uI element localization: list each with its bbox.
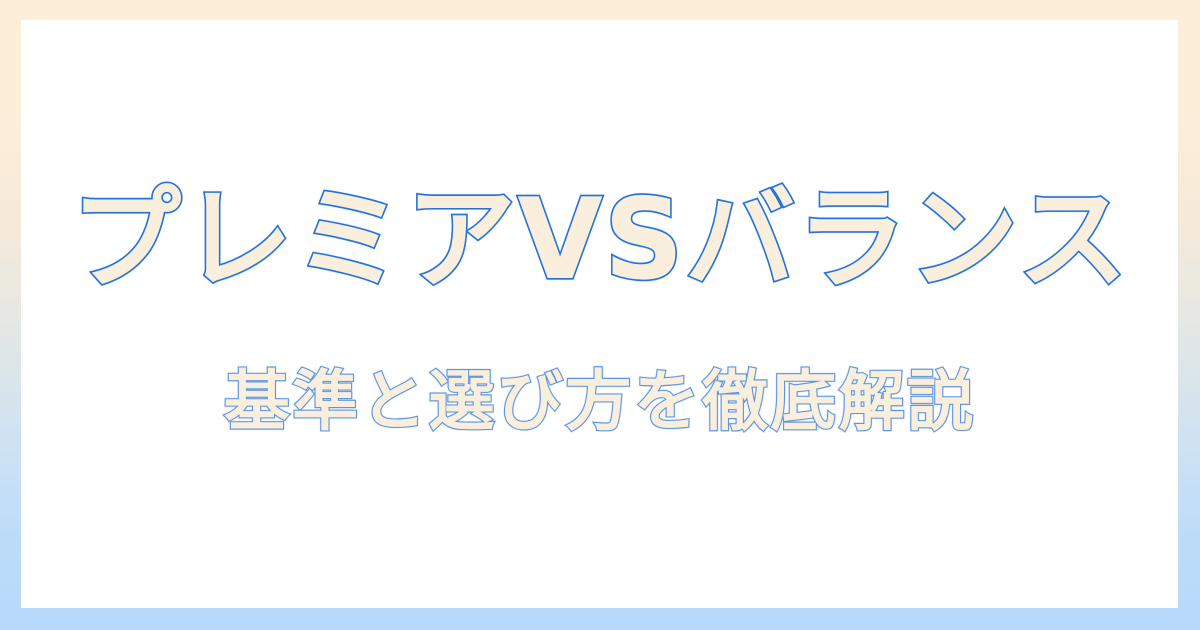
headline-block: プレミアVSバランス 基準と選び方を徹底解説	[21, 174, 1178, 441]
content-card: プレミアVSバランス 基準と選び方を徹底解説	[21, 20, 1178, 608]
page-subtitle: 基準と選び方を徹底解説	[100, 362, 1100, 441]
poster-frame: プレミアVSバランス 基準と選び方を徹底解説	[0, 0, 1200, 630]
page-title: プレミアVSバランス	[53, 174, 1146, 306]
